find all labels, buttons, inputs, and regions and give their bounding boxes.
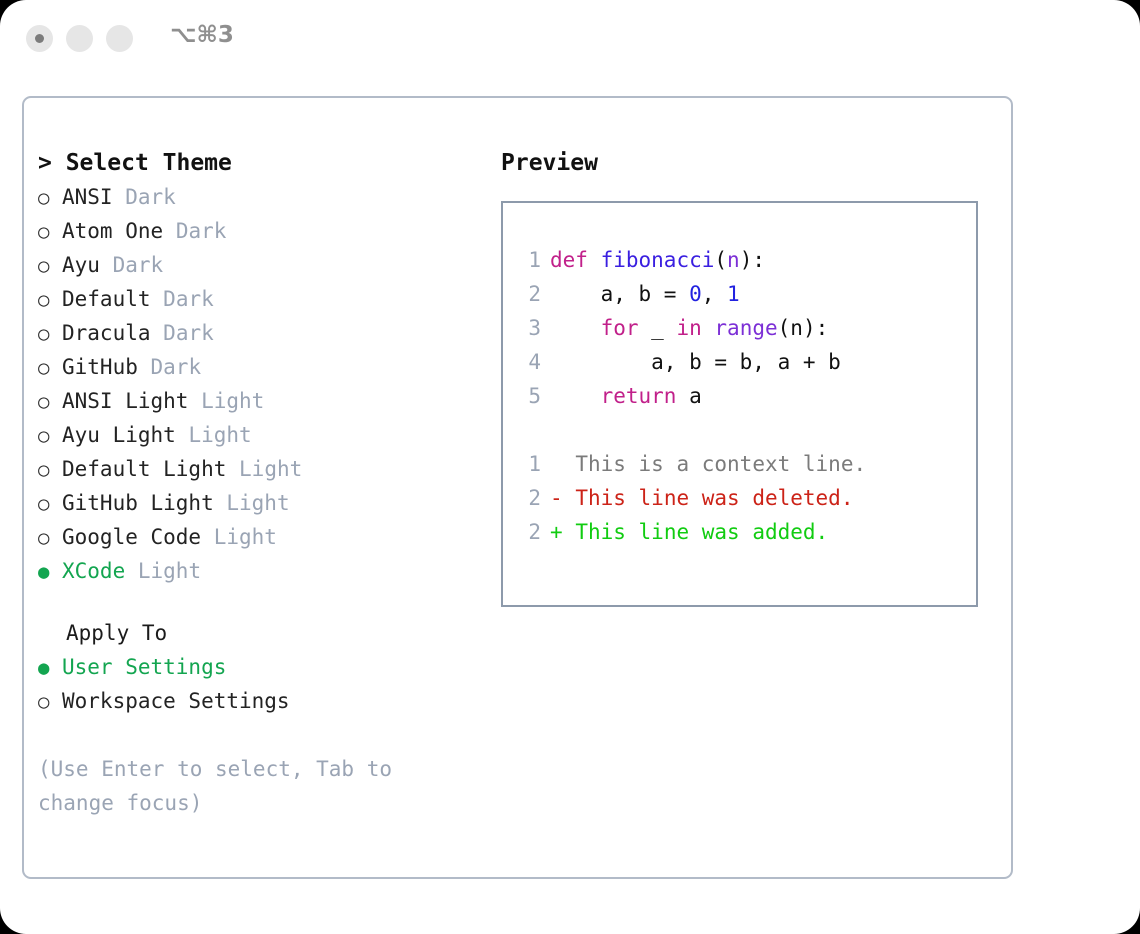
theme-option-label: GitHub: [62, 355, 138, 379]
code-token-punc: ):: [803, 316, 828, 340]
theme-option-variant: Dark: [125, 185, 176, 209]
theme-option-variant: Light: [226, 491, 289, 515]
radio-unselected-icon: ○: [38, 685, 62, 719]
theme-option-ayu[interactable]: ○Ayu Dark: [38, 248, 468, 282]
theme-option-label: Ayu: [62, 253, 100, 277]
theme-option-default[interactable]: ○Default Dark: [38, 282, 468, 316]
theme-option-variant: Dark: [163, 287, 214, 311]
maximize-button[interactable]: [106, 25, 133, 52]
theme-option-label: ANSI: [62, 185, 113, 209]
diff-line-number: 2: [515, 515, 541, 549]
radio-unselected-icon: ○: [38, 385, 62, 419]
theme-option-label: Ayu Light: [62, 423, 176, 447]
theme-option-github[interactable]: ○GitHub Dark: [38, 350, 468, 384]
diff-line-del: 2- This line was deleted.: [515, 481, 976, 515]
code-token-punc: (: [778, 316, 791, 340]
code-sample: 1def fibonacci(n):2 a, b = 0, 13 for _ i…: [515, 243, 976, 413]
radio-unselected-icon: ○: [38, 215, 62, 249]
theme-option-atom-one[interactable]: ○Atom One Dark: [38, 214, 468, 248]
code-token-id: n: [727, 248, 740, 272]
theme-option-label: Default Light: [62, 457, 226, 481]
theme-option-label: XCode: [62, 559, 125, 583]
radio-unselected-icon: ○: [38, 317, 62, 351]
radio-selected-icon: ●: [38, 555, 62, 589]
theme-list-heading: > Select Theme: [38, 146, 468, 180]
theme-option-label: ANSI Light: [62, 389, 188, 413]
apply-to-option-workspace-settings[interactable]: ○Workspace Settings: [38, 684, 468, 718]
heading-prompt: >: [38, 150, 66, 176]
theme-option-xcode[interactable]: ●XCode Light: [38, 554, 468, 588]
code-token-plain: [702, 316, 715, 340]
theme-option-ayu-light[interactable]: ○Ayu Light Light: [38, 418, 468, 452]
code-token-kw: in: [676, 316, 701, 340]
theme-list-column: > Select Theme ○ANSI Dark○Atom One Dark○…: [38, 146, 468, 820]
code-token-plain: [550, 384, 601, 408]
apply-to-option-user-settings[interactable]: ●User Settings: [38, 650, 468, 684]
apply-to-option-list: ●User Settings○Workspace Settings: [38, 650, 468, 718]
window-title: ⌥⌘3: [170, 22, 234, 48]
theme-option-variant: Light: [201, 389, 264, 413]
theme-option-label: Default: [62, 287, 151, 311]
code-line: 3 for _ in range(n):: [515, 311, 976, 345]
theme-option-variant: Light: [188, 423, 251, 447]
theme-option-dracula[interactable]: ○Dracula Dark: [38, 316, 468, 350]
diff-marker: +: [550, 520, 563, 544]
code-token-plain: [550, 316, 601, 340]
preview-column: Preview 1def fibonacci(n):2 a, b = 0, 13…: [501, 146, 1001, 607]
diff-marker: [550, 452, 563, 476]
diff-text: This line was deleted.: [575, 486, 853, 510]
code-line: 2 a, b = 0, 1: [515, 277, 976, 311]
radio-unselected-icon: ○: [38, 181, 62, 215]
code-token-fn: fibonacci: [601, 248, 715, 272]
theme-option-variant: Light: [214, 525, 277, 549]
theme-option-google-code[interactable]: ○Google Code Light: [38, 520, 468, 554]
radio-unselected-icon: ○: [38, 487, 62, 521]
theme-option-label: Dracula: [62, 321, 151, 345]
diff-marker: -: [550, 486, 563, 510]
theme-option-ansi-light[interactable]: ○ANSI Light Light: [38, 384, 468, 418]
apply-to-spacer: [38, 588, 468, 616]
code-line: 5 return a: [515, 379, 976, 413]
window-titlebar: ⌥⌘3: [0, 0, 1140, 78]
radio-unselected-icon: ○: [38, 419, 62, 453]
hint-spacer: [38, 718, 468, 752]
code-token-id: range: [714, 316, 777, 340]
theme-option-variant: Light: [239, 457, 302, 481]
code-token-num: 1: [727, 282, 740, 306]
preview-box: 1def fibonacci(n):2 a, b = 0, 13 for _ i…: [501, 201, 978, 607]
radio-unselected-icon: ○: [38, 521, 62, 555]
code-token-plain: [588, 248, 601, 272]
diff-line-text: This is a context line.: [550, 452, 866, 476]
code-token-plain: _: [639, 316, 677, 340]
theme-option-variant: Dark: [176, 219, 227, 243]
theme-option-variant: Dark: [163, 321, 214, 345]
theme-option-variant: Light: [138, 559, 201, 583]
code-token-num: 0: [689, 282, 702, 306]
diff-line-text: - This line was deleted.: [550, 486, 853, 510]
theme-option-label: Google Code: [62, 525, 201, 549]
diff-line-add: 2+ This line was added.: [515, 515, 976, 549]
code-token-punc: (: [714, 248, 727, 272]
code-token-plain: ,: [702, 282, 727, 306]
radio-unselected-icon: ○: [38, 351, 62, 385]
theme-option-ansi[interactable]: ○ANSI Dark: [38, 180, 468, 214]
diff-line-number: 1: [515, 447, 541, 481]
code-line-number: 2: [515, 277, 541, 311]
code-line-number: 4: [515, 345, 541, 379]
keyboard-hint: (Use Enter to select, Tab to change focu…: [38, 752, 442, 820]
code-line: 4 a, b = b, a + b: [515, 345, 976, 379]
diff-line-ctx: 1 This is a context line.: [515, 447, 976, 481]
diff-text: This line was added.: [575, 520, 828, 544]
radio-unselected-icon: ○: [38, 283, 62, 317]
code-token-kw: def: [550, 248, 588, 272]
theme-selector-panel: > Select Theme ○ANSI Dark○Atom One Dark○…: [22, 96, 1013, 879]
diff-line-number: 2: [515, 481, 541, 515]
code-token-plain: a, b = b, a + b: [550, 350, 841, 374]
code-diff-separator: [515, 413, 976, 447]
code-line-number: 5: [515, 379, 541, 413]
theme-option-label: Atom One: [62, 219, 163, 243]
apply-to-option-label: Workspace Settings: [62, 689, 290, 713]
code-token-plain: a, b =: [550, 282, 689, 306]
diff-sample: 1 This is a context line.2- This line wa…: [515, 447, 976, 549]
code-token-kw: for: [601, 316, 639, 340]
minimize-button[interactable]: [66, 25, 93, 52]
theme-option-label: GitHub Light: [62, 491, 214, 515]
diff-text: This is a context line.: [575, 452, 866, 476]
diff-line-text: + This line was added.: [550, 520, 828, 544]
apply-to-option-label: User Settings: [62, 655, 226, 679]
code-token-plain: n: [790, 316, 803, 340]
theme-option-variant: Dark: [113, 253, 164, 277]
radio-selected-icon: ●: [38, 651, 62, 685]
code-token-plain: a: [676, 384, 701, 408]
terminal-window: ⌥⌘3 > Select Theme ○ANSI Dark○Atom One D…: [0, 0, 1140, 934]
code-line-number: 3: [515, 311, 541, 345]
theme-option-variant: Dark: [151, 355, 202, 379]
theme-option-list: ○ANSI Dark○Atom One Dark○Ayu Dark○Defaul…: [38, 180, 468, 588]
radio-unselected-icon: ○: [38, 453, 62, 487]
code-token-kw: return: [601, 384, 677, 408]
radio-unselected-icon: ○: [38, 249, 62, 283]
code-token-punc: ):: [740, 248, 765, 272]
theme-option-github-light[interactable]: ○GitHub Light Light: [38, 486, 468, 520]
theme-option-default-light[interactable]: ○Default Light Light: [38, 452, 468, 486]
close-dot-icon: [35, 34, 44, 43]
apply-to-heading: Apply To: [38, 616, 468, 650]
code-line: 1def fibonacci(n):: [515, 243, 976, 277]
preview-title: Preview: [501, 146, 1001, 180]
heading-text: Select Theme: [66, 150, 232, 176]
code-line-number: 1: [515, 243, 541, 277]
